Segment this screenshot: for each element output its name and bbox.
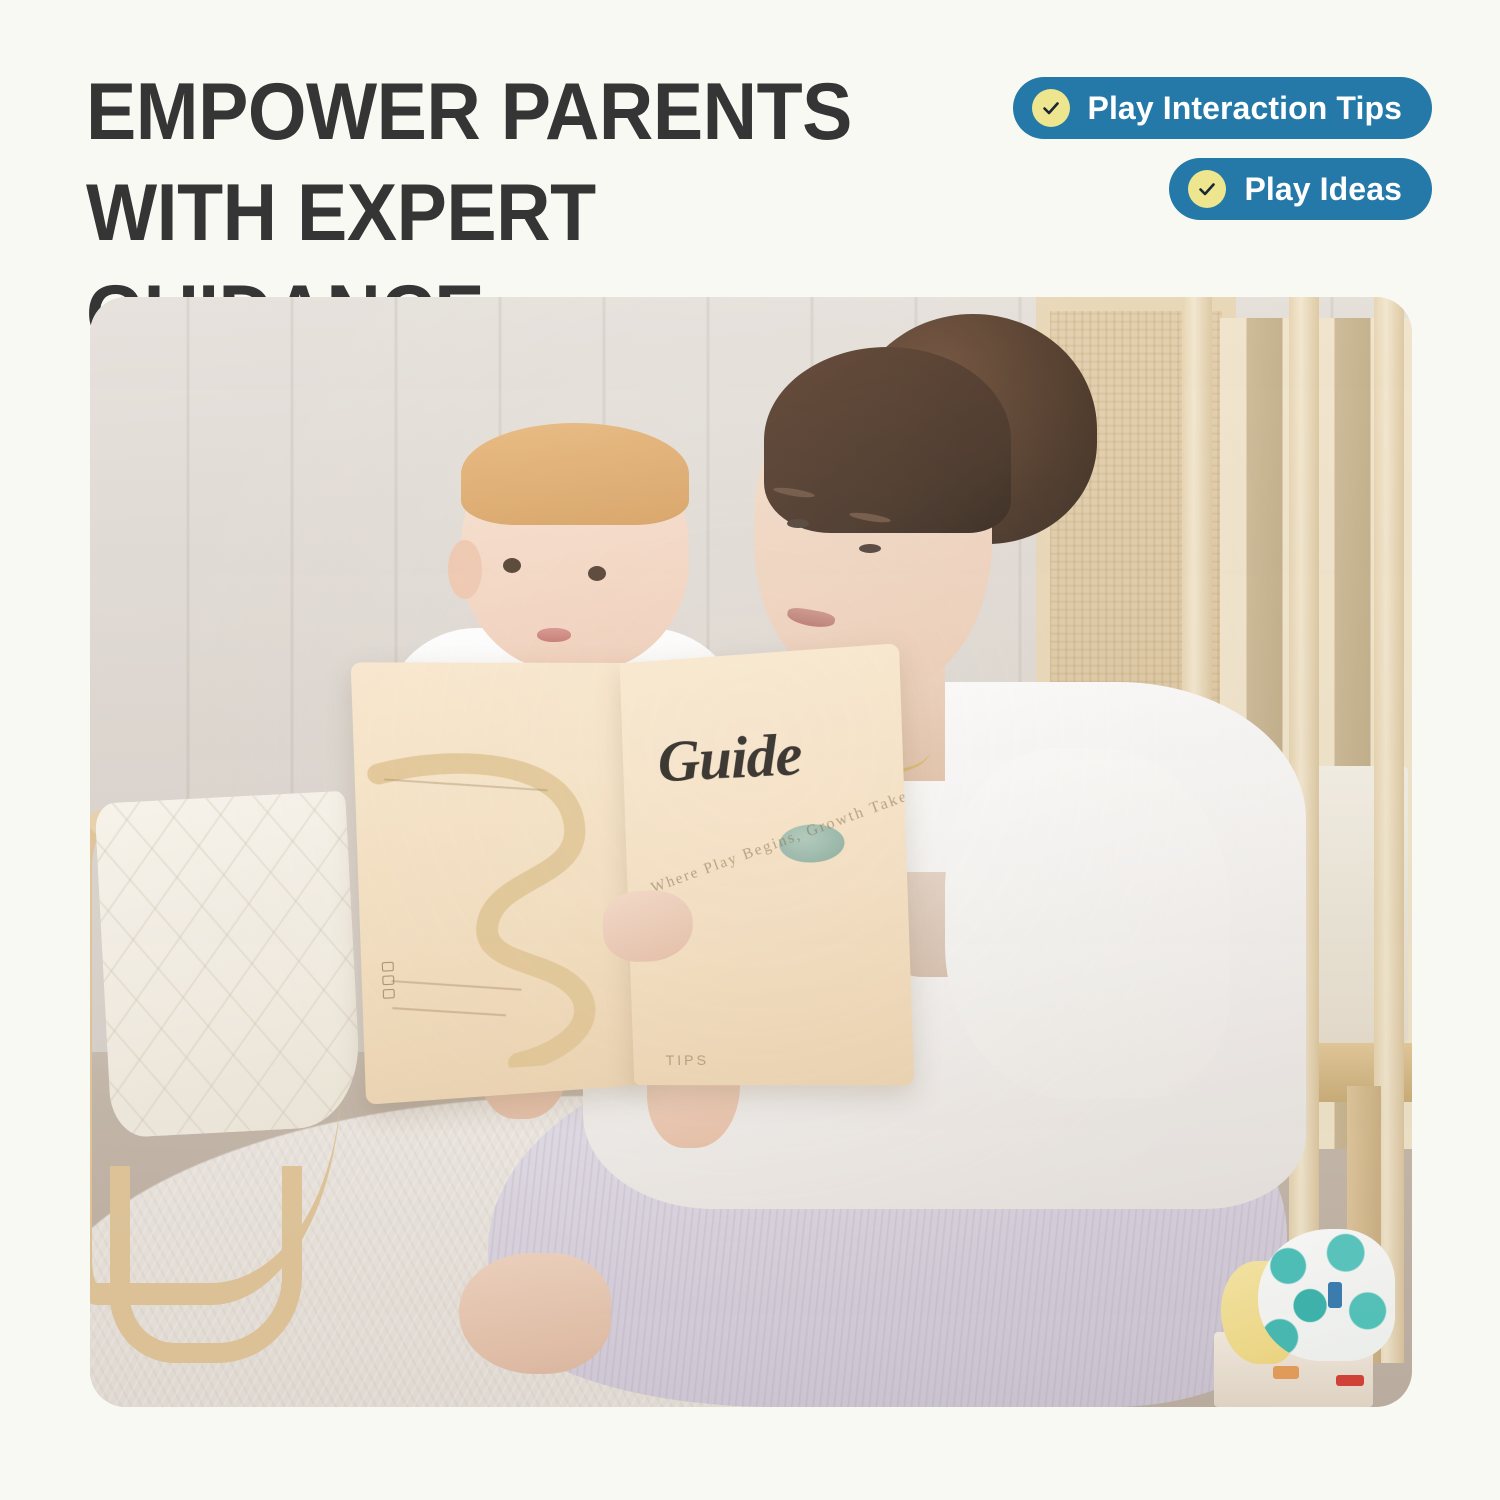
chair-runner [110, 1166, 302, 1362]
toy-accent-dot [1336, 1375, 1364, 1386]
baby-ear [448, 540, 482, 599]
guide-booklet: Guide Where Play Begins, Growth Takes Ro… [360, 654, 903, 1094]
booklet-left-page [350, 663, 644, 1105]
squiggle-graphic [364, 714, 645, 1078]
mother-arm [945, 748, 1231, 1100]
feature-badge-play-ideas[interactable]: Play Ideas [1169, 158, 1432, 220]
lifestyle-photo: Guide Where Play Begins, Growth Takes Ro… [90, 297, 1412, 1407]
booklet-title: Guide [657, 720, 803, 796]
banner-header: EMPOWER PARENTS WITH EXPERT GUIDANCE Pla… [0, 0, 1500, 285]
feature-badge-label: Play Ideas [1244, 171, 1402, 208]
toy-teal-fabric [1258, 1229, 1395, 1360]
check-circle-icon [1188, 170, 1226, 208]
baby-eye [588, 566, 606, 581]
feature-badge-play-interaction-tips[interactable]: Play Interaction Tips [1013, 77, 1433, 139]
check-circle-icon [1032, 89, 1070, 127]
mother-foot [459, 1253, 611, 1374]
baby-hair [461, 423, 689, 526]
booklet-icon [382, 975, 394, 985]
booklet-right-page: Guide Where Play Begins, Growth Takes Ro… [619, 643, 913, 1085]
feature-badge-label: Play Interaction Tips [1088, 90, 1403, 127]
booklet-footer-text: TIPS [665, 1052, 709, 1068]
booklet-icon [381, 962, 393, 972]
feature-badge-list: Play Interaction Tips Play Ideas [1013, 77, 1433, 220]
toy-accent-dot [1328, 1282, 1342, 1308]
booklet-icon [382, 989, 394, 999]
booklet-icon-list [381, 962, 394, 999]
baby-mouth [537, 628, 571, 642]
fabric-toy [1214, 1229, 1399, 1407]
nursery-scene: Guide Where Play Begins, Growth Takes Ro… [90, 297, 1412, 1407]
toy-accent-dot [1273, 1366, 1299, 1379]
chair-cushion [95, 791, 363, 1138]
mother-hair [764, 347, 1011, 534]
